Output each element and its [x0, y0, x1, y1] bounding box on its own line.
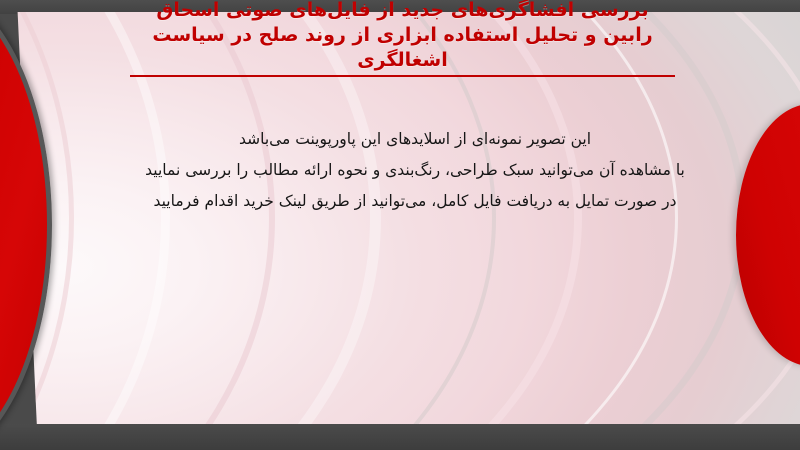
- slide-body-line-1: این تصویر نمونه‌ای از اسلایدهای این پاور…: [55, 124, 775, 155]
- slide-title-line-1: بررسی افشاگری‌های جدید از فایل‌های صوتی …: [130, 0, 675, 23]
- background-arc: [0, 12, 678, 424]
- slide-body-text: این تصویر نمونه‌ای از اسلایدهای این پاور…: [55, 124, 775, 217]
- background-arc: [0, 12, 800, 424]
- slide-title: بررسی افشاگری‌های جدید از فایل‌های صوتی …: [130, 0, 675, 73]
- background-arc: [0, 12, 496, 424]
- slide-body-line-3: در صورت تمایل به دریافت فایل کامل، می‌تو…: [55, 186, 775, 217]
- background-arc: [0, 12, 381, 424]
- slide-title-line-3: اشغالگری: [130, 48, 675, 73]
- slide-frame-bottom-band: [0, 424, 800, 450]
- slide-body-line-2: با مشاهده آن می‌توانید سبک طراحی، رنگ‌بن…: [55, 155, 775, 186]
- background-arc: [0, 12, 746, 424]
- slide-canvas: بررسی افشاگری‌های جدید از فایل‌های صوتی …: [0, 0, 800, 450]
- slide-content-panel: [0, 12, 800, 424]
- background-arc: [0, 12, 800, 424]
- slide-title-line-2: رابین و تحلیل استفاده ابزاری از روند صلح…: [130, 23, 675, 48]
- background-arc: [0, 12, 582, 424]
- background-arc-pattern: [0, 12, 800, 424]
- background-arc: [0, 12, 800, 424]
- title-divider-rule: [130, 75, 675, 77]
- background-arc: [0, 12, 800, 424]
